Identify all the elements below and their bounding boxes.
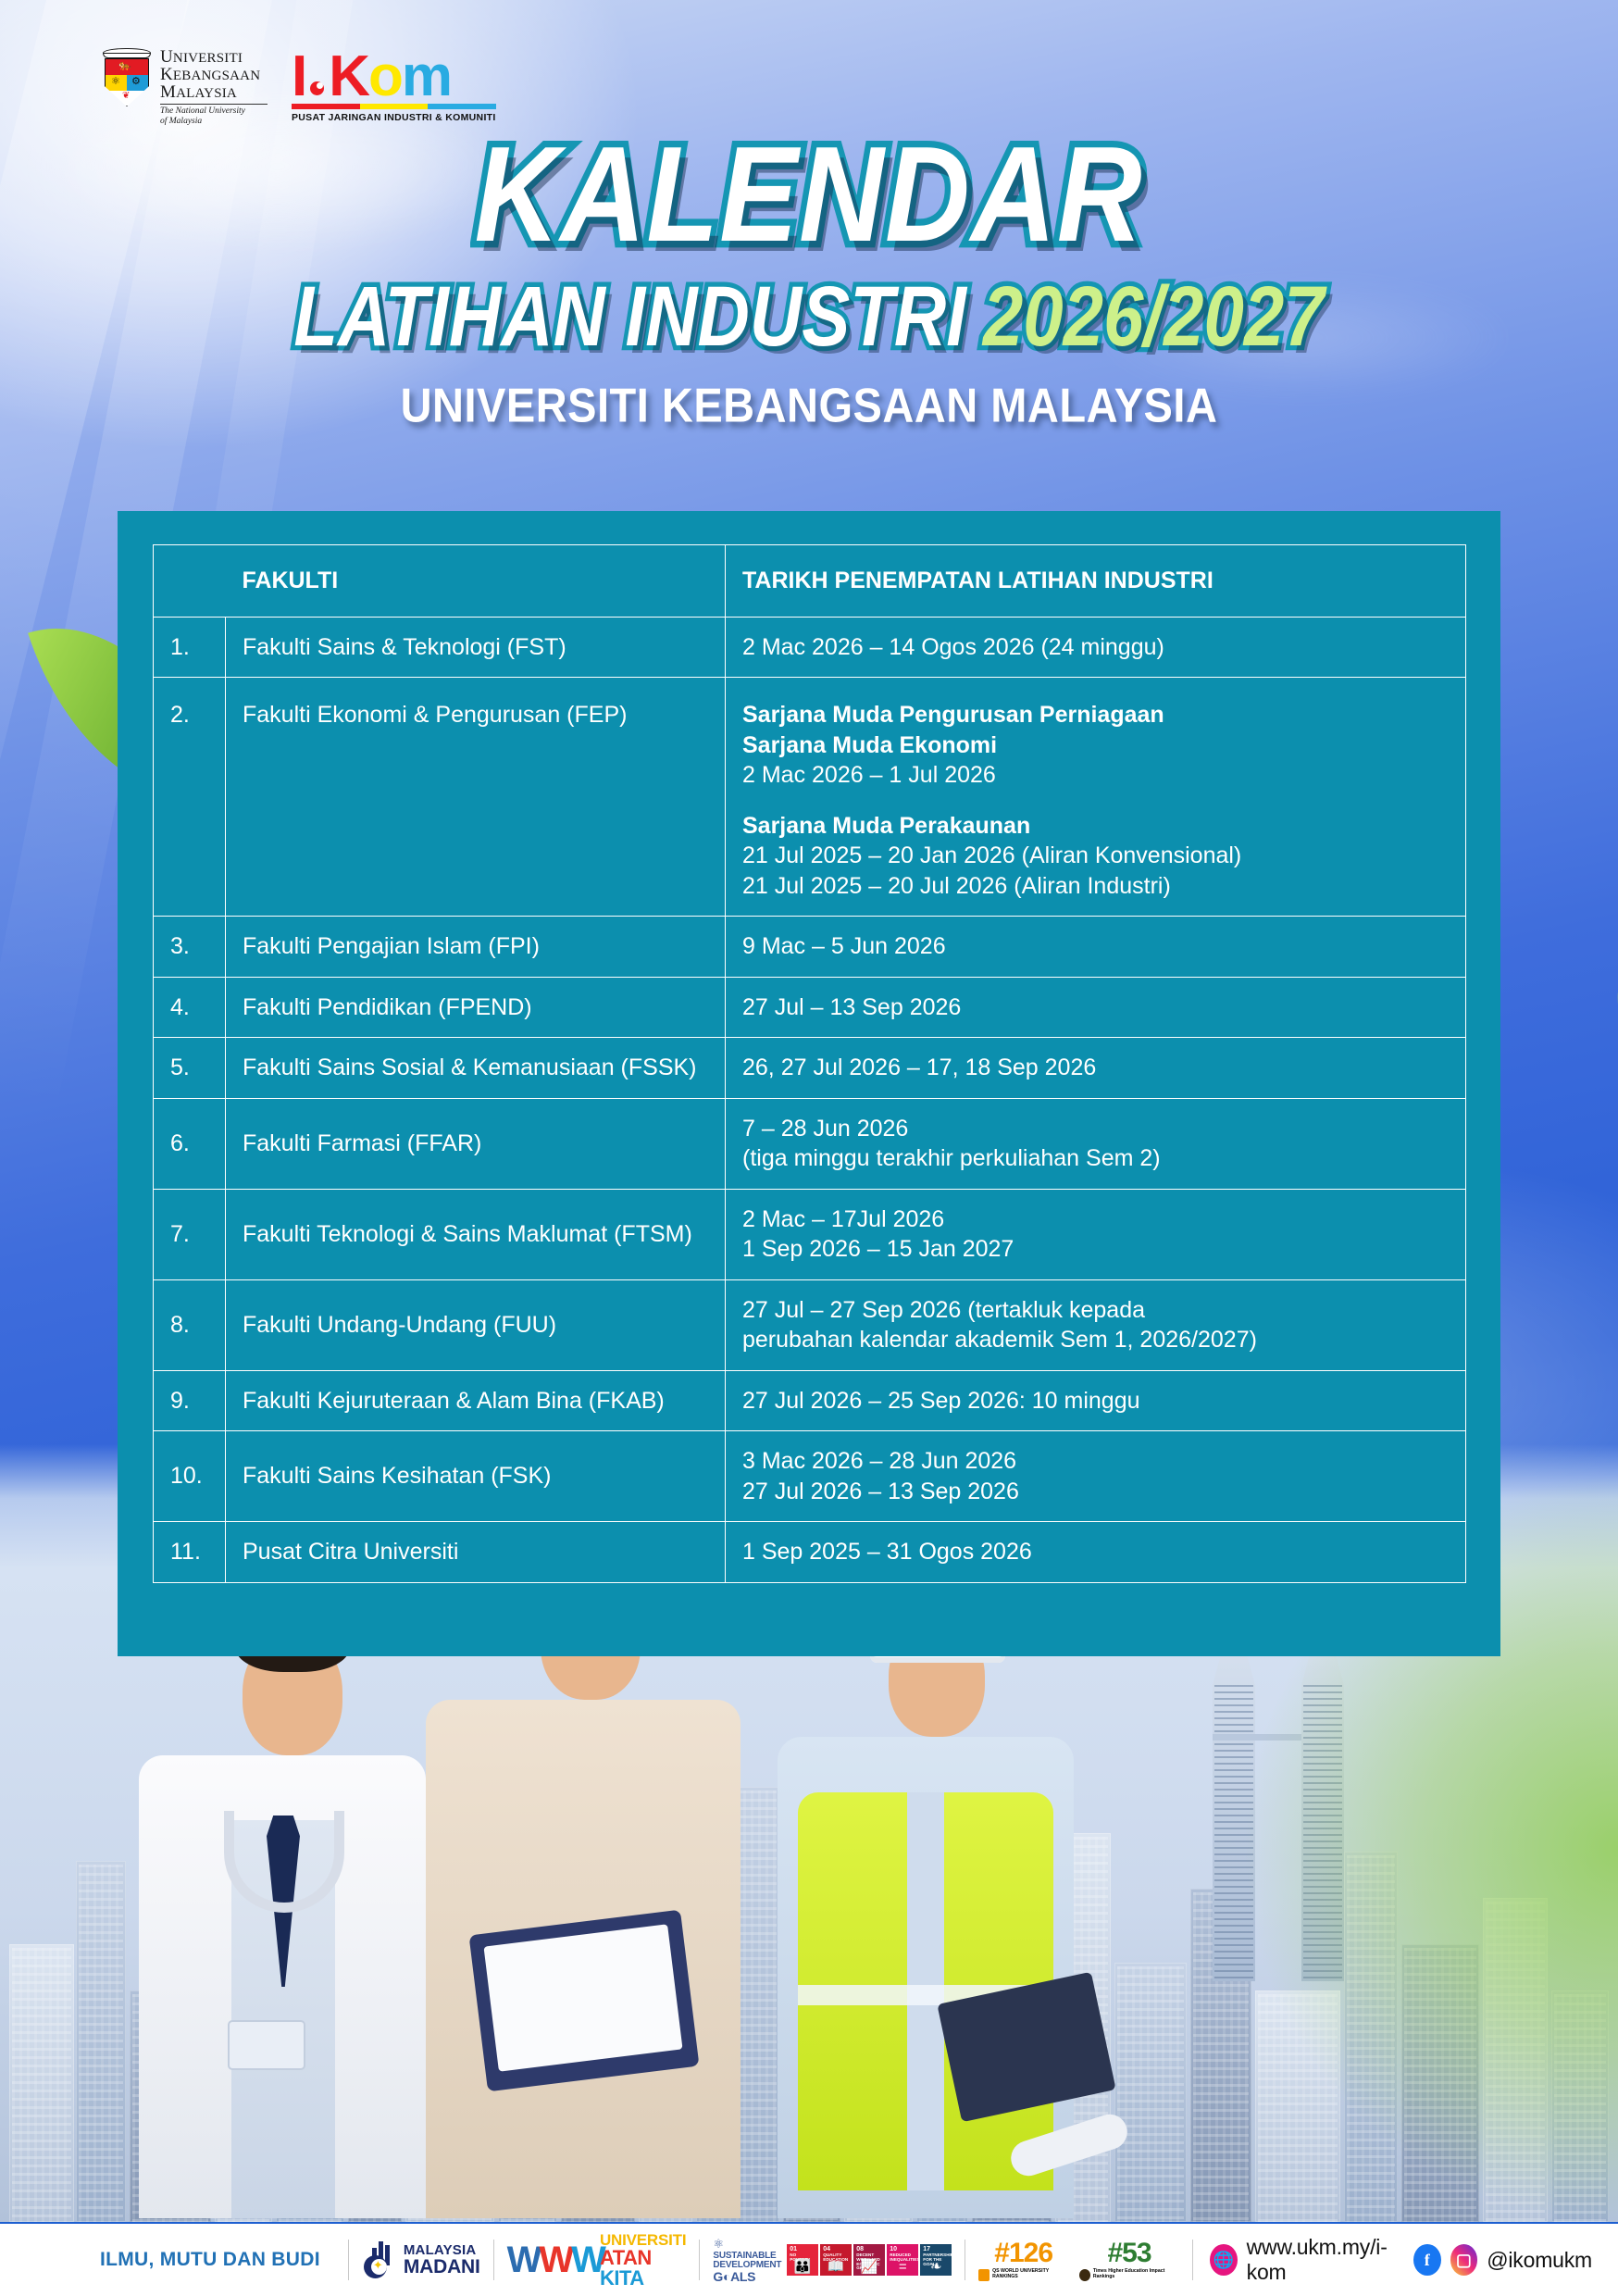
footer-bar: ILMU, MUTU DAN BUDI ✦ MALAYSIA MADANI WW… [0, 2224, 1618, 2296]
date-line: 9 Mac – 5 Jun 2026 [742, 933, 946, 959]
date-line: 27 Jul – 13 Sep 2026 [742, 994, 961, 1020]
date-line: perubahan kalendar akademik Sem 1, 2026/… [742, 1325, 1449, 1355]
date-line: 1 Sep 2026 – 15 Jan 2027 [742, 1234, 1449, 1265]
row-num: 11. [154, 1522, 226, 1583]
row-dates: Sarjana Muda Pengurusan Perniagaan Sarja… [726, 678, 1466, 917]
divider [493, 2240, 494, 2280]
malaysia-madani-logo: ✦ MALAYSIA MADANI [362, 2241, 480, 2278]
bar-chart-icon: 📈 [853, 2260, 885, 2274]
ikom-letter-k: K [329, 52, 368, 103]
date-line: 7 – 28 Jun 2026 [742, 1114, 1449, 1144]
ikom-logo: I K o m PUSAT JARINGAN INDUSTRI & KOMUNI… [292, 52, 496, 124]
facebook-icon[interactable]: f [1413, 2244, 1441, 2276]
date-line: 3 Mac 2026 – 28 Jun 2026 [742, 1446, 1449, 1477]
social-links: 🌐 www.ukm.my/i-kom f ▢ @ikomukm [1206, 2235, 1592, 2285]
date-line: 2 Mac 2026 – 14 Ogos 2026 (24 minggu) [742, 634, 1164, 660]
row-dates: 3 Mac 2026 – 28 Jun 2026 27 Jul 2026 – 1… [726, 1431, 1466, 1522]
table-row: 8. Fakulti Undang-Undang (FUU) 27 Jul – … [154, 1279, 1466, 1370]
row-num: 3. [154, 917, 226, 978]
programme-name: Sarjana Muda Perakaunan [742, 811, 1449, 842]
watan-w-icon: WWW [507, 2243, 604, 2277]
sdg-badges: 01 NO POVERTY 👪 04 QUALITY EDUCATION 📖 0… [787, 2244, 952, 2276]
programme-name: Sarjana Muda Ekonomi [742, 730, 1449, 761]
poster-titles: KALENDAR LATIHAN INDUSTRI2026/2027 UNIVE… [0, 139, 1618, 430]
title-kalendar: KALENDAR [475, 127, 1143, 262]
divider [348, 2240, 349, 2280]
row-dates: 26, 27 Jul 2026 – 17, 18 Sep 2026 [726, 1038, 1466, 1099]
date-line: 2 Mac 2026 – 1 Jul 2026 [742, 762, 996, 788]
sdg-badge-08: 08 DECENT WORK AND ECONOMIC GROWTH 📈 [853, 2244, 885, 2276]
sdg-badge-01: 01 NO POVERTY 👪 [787, 2244, 818, 2276]
madani-line1: MALAYSIA [404, 2243, 480, 2257]
row-num: 8. [154, 1279, 226, 1370]
sdg-section: ⚛ SUSTAINABLE DEVELOPMENT G◐ALS 01 NO PO… [713, 2237, 952, 2283]
row-dates: 27 Jul 2026 – 25 Sep 2026: 10 minggu [726, 1370, 1466, 1431]
table-header-dates: TARIKH PENEMPATAN LATIHAN INDUSTRI [726, 545, 1466, 618]
row-faculty: Fakulti Sains Kesihatan (FSK) [226, 1431, 726, 1522]
ukm-logo-tagline2: of Malaysia [160, 117, 268, 127]
un-emblem-icon: ⚛ [713, 2237, 724, 2251]
row-faculty: Fakulti Sains Sosial & Kemanusiaan (FSSK… [226, 1038, 726, 1099]
people-icon: 👪 [787, 2260, 818, 2274]
date-line: 21 Jul 2025 – 20 Jul 2026 (Aliran Indust… [742, 871, 1449, 902]
row-dates: 7 – 28 Jun 2026 (tiga minggu terakhir pe… [726, 1098, 1466, 1189]
title-latihan-industri: LATIHAN INDUSTRI [293, 268, 966, 364]
logo-row: 🐅 ⚛ ⚙ ❦ UUniversitiNIVERSITI KEBANGSAAN … [102, 48, 496, 127]
website-icon[interactable]: 🌐 [1210, 2244, 1238, 2276]
ukm-logo: 🐅 ⚛ ⚙ ❦ UUniversitiNIVERSITI KEBANGSAAN … [102, 48, 268, 127]
footer-motto: ILMU, MUTU DAN BUDI [26, 2249, 335, 2271]
sdg-badge-10: 10 REDUCED INEQUALITIES = [887, 2244, 918, 2276]
instagram-icon[interactable]: ▢ [1450, 2244, 1478, 2276]
row-dates: 1 Sep 2025 – 31 Ogos 2026 [726, 1522, 1466, 1583]
sdg-badge-04: 04 QUALITY EDUCATION 📖 [820, 2244, 852, 2276]
row-num: 7. [154, 1189, 226, 1279]
table-row: 3. Fakulti Pengajian Islam (FPI) 9 Mac –… [154, 917, 1466, 978]
row-dates: 27 Jul – 27 Sep 2026 (tertakluk kepada p… [726, 1279, 1466, 1370]
table-row: 4. Fakulti Pendidikan (FPEND) 27 Jul – 1… [154, 977, 1466, 1038]
ikom-dot-icon [310, 81, 324, 95]
table-row: 6. Fakulti Farmasi (FFAR) 7 – 28 Jun 202… [154, 1098, 1466, 1189]
website-url[interactable]: www.ukm.my/i-kom [1247, 2235, 1404, 2285]
row-dates: 9 Mac – 5 Jun 2026 [726, 917, 1466, 978]
row-dates: 2 Mac – 17Jul 2026 1 Sep 2026 – 15 Jan 2… [726, 1189, 1466, 1279]
sdg-label: ⚛ SUSTAINABLE DEVELOPMENT G◐ALS [713, 2237, 781, 2283]
date-line: 27 Jul 2026 – 13 Sep 2026 [742, 1477, 1449, 1507]
divider [1192, 2240, 1193, 2280]
ikom-letter-i: I [292, 52, 305, 103]
row-num: 10. [154, 1431, 226, 1522]
title-line2: LATIHAN INDUSTRI2026/2027 [293, 273, 1324, 358]
row-faculty: Fakulti Pengajian Islam (FPI) [226, 917, 726, 978]
madani-mark-icon: ✦ [362, 2241, 397, 2278]
table-row: 2. Fakulti Ekonomi & Pengurusan (FEP) Sa… [154, 678, 1466, 917]
row-num: 4. [154, 977, 226, 1038]
ukm-logo-line2: KEBANGSAAN [160, 66, 268, 83]
date-line: 1 Sep 2025 – 31 Ogos 2026 [742, 1539, 1032, 1565]
table-header-num [154, 545, 226, 618]
ikom-letter-m: m [402, 52, 451, 103]
book-icon: 📖 [820, 2260, 852, 2274]
the-impact-ranking: #53 Times Higher Education Impact Rankin… [1079, 2240, 1179, 2281]
social-handle[interactable]: @ikomukm [1487, 2248, 1592, 2273]
date-line: 26, 27 Jul 2026 – 17, 18 Sep 2026 [742, 1054, 1096, 1080]
ukm-logo-tagline1: The National University [160, 106, 268, 117]
date-line: 27 Jul 2026 – 25 Sep 2026: 10 minggu [742, 1388, 1140, 1414]
ranking-badges: #126 QS WORLD UNIVERSITY RANKINGS #53 Ti… [978, 2240, 1179, 2281]
watan-kita: ATAN KITA [600, 2248, 686, 2289]
title-subtitle: UNIVERSITI KEBANGSAAN MALAYSIA [401, 377, 1218, 433]
row-num: 2. [154, 678, 226, 917]
date-line: 21 Jul 2025 – 20 Jan 2026 (Aliran Konven… [742, 841, 1449, 871]
row-faculty: Fakulti Undang-Undang (FUU) [226, 1279, 726, 1370]
row-faculty: Fakulti Kejuruteraan & Alam Bina (FKAB) [226, 1370, 726, 1431]
ikom-letter-o: o [368, 52, 402, 103]
row-num: 1. [154, 617, 226, 678]
row-faculty: Fakulti Sains & Teknologi (FST) [226, 617, 726, 678]
universiti-watan-kita-logo: WWW UNIVERSITI ATAN KITA [507, 2232, 687, 2289]
ikom-colorbar [292, 104, 496, 109]
madani-line2: MADANI [404, 2257, 480, 2277]
table-row: 9. Fakulti Kejuruteraan & Alam Bina (FKA… [154, 1370, 1466, 1431]
ukm-crest-icon: 🐅 ⚛ ⚙ ❦ [102, 48, 152, 107]
table-header-row: FAKULTI TARIKH PENEMPATAN LATIHAN INDUST… [154, 545, 1466, 618]
row-dates: 2 Mac 2026 – 14 Ogos 2026 (24 minggu) [726, 617, 1466, 678]
date-line: 27 Jul – 27 Sep 2026 (tertakluk kepada [742, 1295, 1449, 1326]
programme-name: Sarjana Muda Pengurusan Perniagaan [742, 700, 1449, 730]
row-faculty: Fakulti Teknologi & Sains Maklumat (FTSM… [226, 1189, 726, 1279]
table-row: 10. Fakulti Sains Kesihatan (FSK) 3 Mac … [154, 1431, 1466, 1522]
sdg-badge-17: 17 PARTNERSHIPS FOR THE GOALS ❧ [920, 2244, 952, 2276]
qs-ranking: #126 QS WORLD UNIVERSITY RANKINGS [978, 2240, 1068, 2281]
sdg-goals-text: G◐ALS [713, 2270, 781, 2283]
row-faculty: Fakulti Pendidikan (FPEND) [226, 977, 726, 1038]
divider [965, 2240, 965, 2280]
date-line: 2 Mac – 17Jul 2026 [742, 1204, 1449, 1235]
divider [699, 2240, 700, 2280]
row-faculty: Pusat Citra Universiti [226, 1522, 726, 1583]
partnership-icon: ❧ [920, 2260, 952, 2274]
ikom-subtitle: PUSAT JARINGAN INDUSTRI & KOMUNITI [292, 112, 496, 123]
ukm-logo-line3: MALAYSIA [160, 83, 268, 101]
title-year-range: 2026/2027 [983, 268, 1325, 364]
equals-icon: = [887, 2260, 918, 2274]
row-faculty: Fakulti Farmasi (FFAR) [226, 1098, 726, 1189]
row-dates: 27 Jul – 13 Sep 2026 [726, 977, 1466, 1038]
table-row: 7. Fakulti Teknologi & Sains Maklumat (F… [154, 1189, 1466, 1279]
industrial-training-schedule-table: FAKULTI TARIKH PENEMPATAN LATIHAN INDUST… [153, 544, 1466, 1583]
table-row: 1. Fakulti Sains & Teknologi (FST) 2 Mac… [154, 617, 1466, 678]
row-num: 6. [154, 1098, 226, 1189]
table-row: 5. Fakulti Sains Sosial & Kemanusiaan (F… [154, 1038, 1466, 1099]
row-faculty: Fakulti Ekonomi & Pengurusan (FEP) [226, 678, 726, 917]
table-row: 11. Pusat Citra Universiti 1 Sep 2025 – … [154, 1522, 1466, 1583]
row-num: 5. [154, 1038, 226, 1099]
person-male-doctor [139, 1570, 426, 2218]
table-header-faculty: FAKULTI [226, 545, 726, 618]
ukm-logo-line1: UUniversitiNIVERSITI [160, 48, 268, 66]
row-num: 9. [154, 1370, 226, 1431]
date-line: (tiga minggu terakhir perkuliahan Sem 2) [742, 1143, 1449, 1174]
